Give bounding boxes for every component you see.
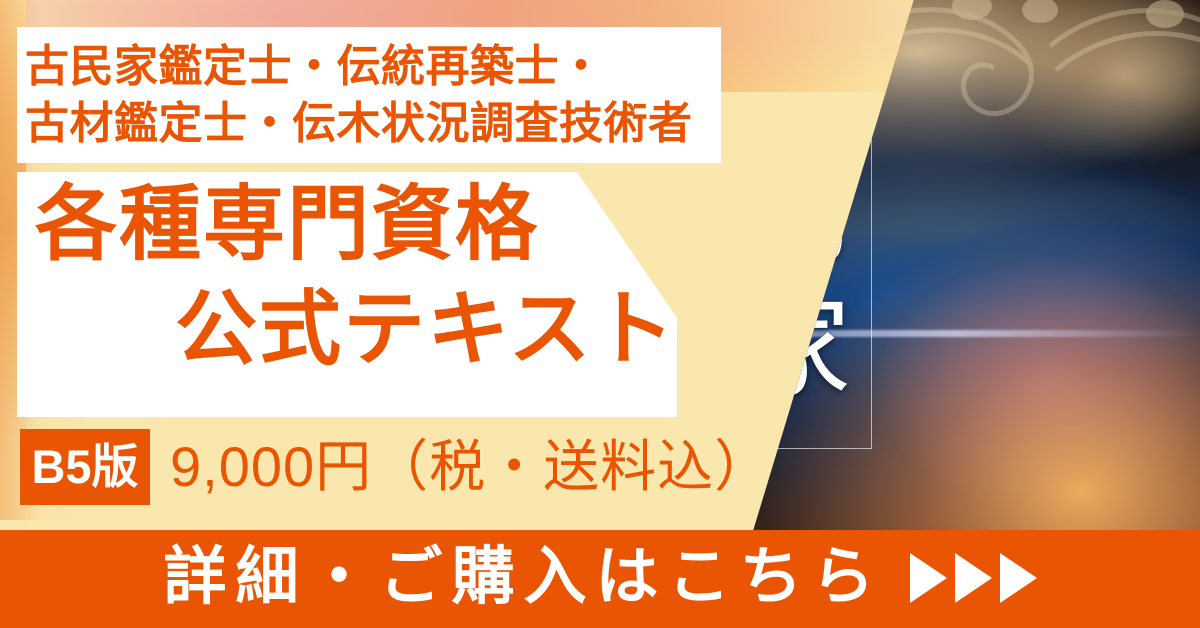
main-title-card: 各種専門資格 公式テキスト (17, 172, 697, 417)
price-text: 9,000円（税・送料込） (170, 429, 771, 505)
main-title-line-1: 各種専門資格 (35, 184, 539, 266)
cta-inner: 詳細・ご購入はこちら (0, 530, 1200, 628)
cta-label: 詳細・ご購入はこちら (164, 546, 884, 613)
qualifications-text: 古民家鑑定士・伝統再築士・ 古材鑑定士・伝木状況調査技術者 (25, 38, 693, 152)
cta-arrows (910, 553, 1037, 606)
qualifications-line-1: 古民家鑑定士・伝統再築士・ (25, 38, 693, 95)
triangle-right-icon (955, 553, 992, 603)
triangle-right-icon (910, 553, 947, 603)
main-title-line-2: 公式テキスト (175, 289, 677, 371)
cta-bar[interactable]: 詳細・ご購入はこちら (0, 530, 1200, 628)
triangle-right-icon (1000, 553, 1037, 603)
promo-banner: 古民家 伝統構法、古民家活用のための調査と再生の 古民家鑑定士・伝統再築士・ 古… (0, 0, 1200, 628)
qualifications-card: 古民家鑑定士・伝統再築士・ 古材鑑定士・伝木状況調査技術者 (17, 27, 721, 163)
qualifications-line-2: 古材鑑定士・伝木状況調査技術者 (25, 95, 693, 152)
format-badge: B5版 (20, 429, 150, 505)
